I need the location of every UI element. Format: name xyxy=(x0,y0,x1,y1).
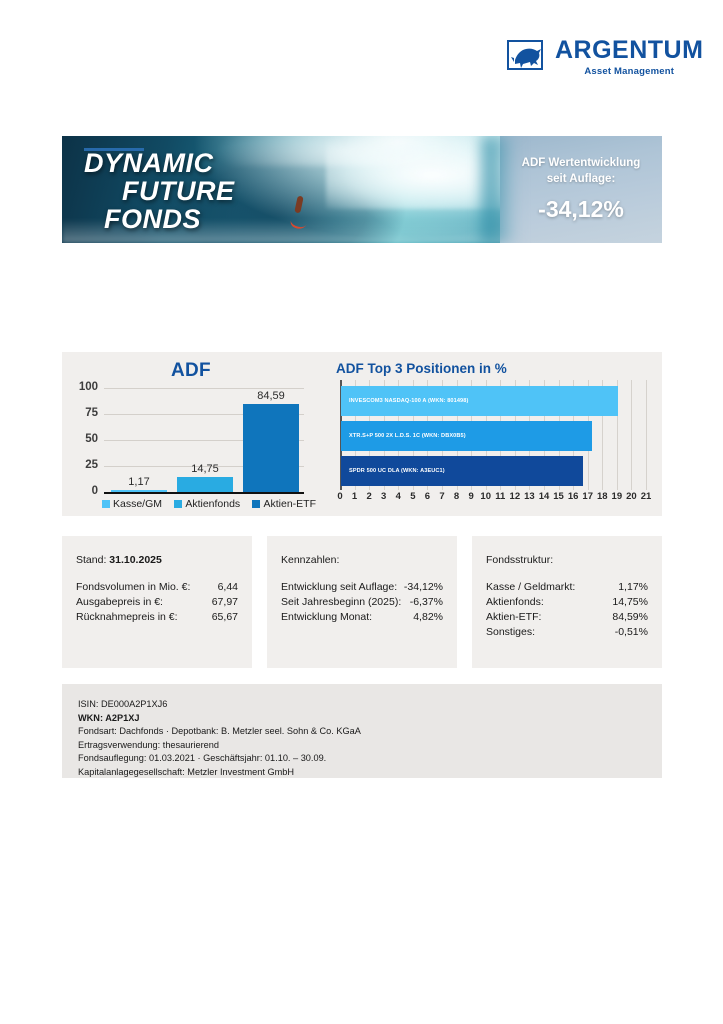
box-fondsstruktur-heading-label: Fondsstruktur: xyxy=(486,554,553,566)
footer-wkn: WKN: A2P1XJ xyxy=(78,712,646,726)
chart-right-x-tick: 1 xyxy=(352,491,357,502)
box-stand-heading: Stand: 31.10.2025 xyxy=(76,554,238,566)
chart-left-y-tick: 0 xyxy=(62,485,98,497)
box-stand-row-label: Ausgabepreis in €: xyxy=(76,595,163,610)
chart-left-bar-group: 84,59 xyxy=(243,388,299,492)
box-fondsstruktur: Fondsstruktur: Kasse / Geldmarkt:1,17%Ak… xyxy=(472,536,662,668)
fund-factsheet-page: ARGENTUM Asset Management DYNAMIC FUTURE… xyxy=(0,0,723,1024)
hero-banner: DYNAMIC FUTURE FONDS ADF Wertentwicklung… xyxy=(62,136,662,243)
brand-name: ARGENTUM xyxy=(555,38,703,63)
chart-right-x-tick: 7 xyxy=(439,491,444,502)
chart-right-x-tick: 12 xyxy=(510,491,521,502)
banner-title-line3: FONDS xyxy=(80,206,380,234)
fund-structure-bar-chart: ADF 0255075100 1,1714,7584,59 Kasse/GMAk… xyxy=(62,352,320,516)
box-fondsstruktur-row-value: 14,75% xyxy=(612,595,648,610)
chart-left-legend-label: Aktienfonds xyxy=(185,498,240,510)
box-stand: Stand: 31.10.2025 Fondsvolumen in Mio. €… xyxy=(62,536,252,668)
box-fondsstruktur-row-label: Aktien-ETF: xyxy=(486,610,541,625)
charts-panel: ADF 0255075100 1,1714,7584,59 Kasse/GMAk… xyxy=(62,352,662,516)
footer-fondsart: Fondsart: Dachfonds · Depotbank: B. Metz… xyxy=(78,725,646,739)
chart-right-x-tick: 5 xyxy=(410,491,415,502)
footer-ertragsverwendung: Ertragsverwendung: thesaurierend xyxy=(78,739,646,753)
chart-left-legend-label: Kasse/GM xyxy=(113,498,162,510)
box-kennzahlen-row-value: -6,37% xyxy=(410,595,443,610)
chart-left-y-tick: 100 xyxy=(62,381,98,393)
chart-left-legend-item: Aktien-ETF xyxy=(252,498,316,510)
banner-title-line2: FUTURE xyxy=(80,178,380,206)
chart-right-x-tick: 17 xyxy=(582,491,593,502)
banner-performance-label-1: ADF Wertentwicklung xyxy=(522,156,641,172)
footer-auflegung: Fondsauflegung: 01.03.2021 · Geschäftsja… xyxy=(78,752,646,766)
chart-right-x-tick: 9 xyxy=(468,491,473,502)
chart-right-x-tick: 3 xyxy=(381,491,386,502)
footer-isin: ISIN: DE000A2P1XJ6 xyxy=(78,698,646,712)
chart-right-x-tick: 20 xyxy=(626,491,637,502)
box-kennzahlen-row: Entwicklung seit Auflage:-34,12% xyxy=(281,580,443,595)
box-fondsstruktur-row: Aktienfonds:14,75% xyxy=(486,595,648,610)
chart-right-bar-label: XTR.S+P 500 2X L.D.S. 1C (WKN: DBX0B5) xyxy=(341,433,466,439)
box-stand-row-label: Rücknahmepreis in €: xyxy=(76,610,178,625)
chart-left-y-tick: 50 xyxy=(62,433,98,445)
chart-right-x-tick: 16 xyxy=(568,491,579,502)
chart-left-bars: 1,1714,7584,59 xyxy=(106,388,304,492)
chart-left-legend-swatch xyxy=(174,500,182,508)
box-stand-row: Rücknahmepreis in €:65,67 xyxy=(76,610,238,625)
box-kennzahlen-row-label: Entwicklung Monat: xyxy=(281,610,372,625)
box-kennzahlen-row: Seit Jahresbeginn (2025):-6,37% xyxy=(281,595,443,610)
chart-title-top3: ADF Top 3 Positionen in % xyxy=(336,361,507,376)
chart-left-legend-item: Aktienfonds xyxy=(174,498,240,510)
chart-right-x-tick: 10 xyxy=(480,491,491,502)
chart-left-legend: Kasse/GMAktienfondsAktien-ETF xyxy=(102,496,316,512)
box-stand-row-value: 65,67 xyxy=(212,610,238,625)
footer-kag: Kapitalanlagegesellschaft: Metzler Inves… xyxy=(78,766,646,780)
box-kennzahlen-row-value: 4,82% xyxy=(413,610,443,625)
chart-left-bar-value-label: 84,59 xyxy=(257,390,285,402)
banner-performance-value: -34,12% xyxy=(538,196,624,223)
chart-left-legend-swatch xyxy=(102,500,110,508)
banner-performance-panel: ADF Wertentwicklung seit Auflage: -34,12… xyxy=(500,136,662,243)
chart-left-y-tick: 75 xyxy=(62,407,98,419)
banner-performance-label-2: seit Auflage: xyxy=(547,172,616,188)
info-boxes: Stand: 31.10.2025 Fondsvolumen in Mio. €… xyxy=(62,536,662,668)
chart-right-x-tick: 19 xyxy=(612,491,623,502)
box-kennzahlen: Kennzahlen: Entwicklung seit Auflage:-34… xyxy=(267,536,457,668)
box-fondsstruktur-row-value: -0,51% xyxy=(615,625,648,640)
chart-right-bar-label: INVESCOM3 NASDAQ-100 A (WKN: 801498) xyxy=(341,398,468,404)
box-kennzahlen-row-label: Entwicklung seit Auflage: xyxy=(281,580,397,595)
chart-left-legend-label: Aktien-ETF xyxy=(263,498,316,510)
box-stand-rows: Fondsvolumen in Mio. €:6,44Ausgabepreis … xyxy=(76,580,238,625)
chart-right-bar-label: SPDR 500 UC DLA (WKN: A3EUC1) xyxy=(341,468,445,474)
chart-left-x-axis xyxy=(104,492,304,494)
chart-left-y-tick: 25 xyxy=(62,459,98,471)
box-kennzahlen-row: Entwicklung Monat:4,82% xyxy=(281,610,443,625)
box-kennzahlen-heading-label: Kennzahlen: xyxy=(281,554,339,566)
chart-right-gridline xyxy=(646,380,647,490)
chart-title-adf: ADF xyxy=(62,360,320,382)
chart-right-plot-area: INVESCOM3 NASDAQ-100 A (WKN: 801498)XTR.… xyxy=(340,380,646,490)
box-fondsstruktur-row: Aktien-ETF:84,59% xyxy=(486,610,648,625)
box-stand-row-label: Fondsvolumen in Mio. €: xyxy=(76,580,190,595)
chart-right-x-tick: 8 xyxy=(454,491,459,502)
box-stand-row: Ausgabepreis in €:67,97 xyxy=(76,595,238,610)
chart-left-bar-value-label: 14,75 xyxy=(191,463,219,475)
chart-left-legend-item: Kasse/GM xyxy=(102,498,162,510)
chart-right-x-tick: 21 xyxy=(641,491,652,502)
chart-right-x-tick: 4 xyxy=(396,491,401,502)
box-fondsstruktur-heading: Fondsstruktur: xyxy=(486,554,648,566)
chart-right-gridline xyxy=(631,380,632,490)
box-fondsstruktur-row-label: Aktienfonds: xyxy=(486,595,544,610)
chart-right-x-tick: 18 xyxy=(597,491,608,502)
box-kennzahlen-heading: Kennzahlen: xyxy=(281,554,443,566)
box-fondsstruktur-rows: Kasse / Geldmarkt:1,17%Aktienfonds:14,75… xyxy=(486,580,648,640)
argentum-bull-logo-icon xyxy=(505,38,547,76)
chart-right-bar: INVESCOM3 NASDAQ-100 A (WKN: 801498) xyxy=(341,386,618,416)
box-fondsstruktur-row: Kasse / Geldmarkt:1,17% xyxy=(486,580,648,595)
box-kennzahlen-rows: Entwicklung seit Auflage:-34,12%Seit Jah… xyxy=(281,580,443,625)
chart-left-bar xyxy=(177,477,233,492)
box-stand-heading-value: 31.10.2025 xyxy=(109,554,162,566)
box-stand-row-value: 6,44 xyxy=(218,580,238,595)
box-fondsstruktur-row-label: Sonstiges: xyxy=(486,625,535,640)
brand-tagline: Asset Management xyxy=(555,67,703,77)
chart-right-x-tick: 15 xyxy=(553,491,564,502)
box-fondsstruktur-row-value: 84,59% xyxy=(612,610,648,625)
box-fondsstruktur-row: Sonstiges:-0,51% xyxy=(486,625,648,640)
box-stand-row: Fondsvolumen in Mio. €:6,44 xyxy=(76,580,238,595)
chart-right-x-tick: 0 xyxy=(337,491,342,502)
chart-left-bar-value-label: 1,17 xyxy=(128,476,149,488)
box-stand-heading-label: Stand: xyxy=(76,554,106,566)
chart-left-bar-group: 1,17 xyxy=(111,388,167,492)
box-fondsstruktur-row-label: Kasse / Geldmarkt: xyxy=(486,580,575,595)
chart-left-bar xyxy=(243,404,299,492)
chart-right-x-tick: 11 xyxy=(495,491,505,502)
chart-right-x-tick: 6 xyxy=(425,491,430,502)
box-kennzahlen-row-value: -34,12% xyxy=(404,580,443,595)
legal-footer: ISIN: DE000A2P1XJ6 WKN: A2P1XJ Fondsart:… xyxy=(62,684,662,778)
top3-positions-bar-chart: ADF Top 3 Positionen in % INVESCOM3 NASD… xyxy=(324,352,662,516)
box-stand-row-value: 67,97 xyxy=(212,595,238,610)
box-kennzahlen-row-label: Seit Jahresbeginn (2025): xyxy=(281,595,401,610)
chart-right-x-axis: 0123456789101112131415161718192021 xyxy=(340,491,646,505)
chart-right-x-tick: 13 xyxy=(524,491,535,502)
chart-left-legend-swatch xyxy=(252,500,260,508)
chart-left-bar-group: 14,75 xyxy=(177,388,233,492)
chart-right-x-tick: 2 xyxy=(366,491,371,502)
chart-right-bar: XTR.S+P 500 2X L.D.S. 1C (WKN: DBX0B5) xyxy=(341,421,592,451)
brand-logo: ARGENTUM Asset Management xyxy=(505,38,703,77)
chart-right-x-tick: 14 xyxy=(539,491,550,502)
chart-right-bar: SPDR 500 UC DLA (WKN: A3EUC1) xyxy=(341,456,583,486)
box-fondsstruktur-row-value: 1,17% xyxy=(618,580,648,595)
banner-title: DYNAMIC FUTURE FONDS xyxy=(80,150,380,233)
banner-title-line1: DYNAMIC xyxy=(80,150,380,178)
